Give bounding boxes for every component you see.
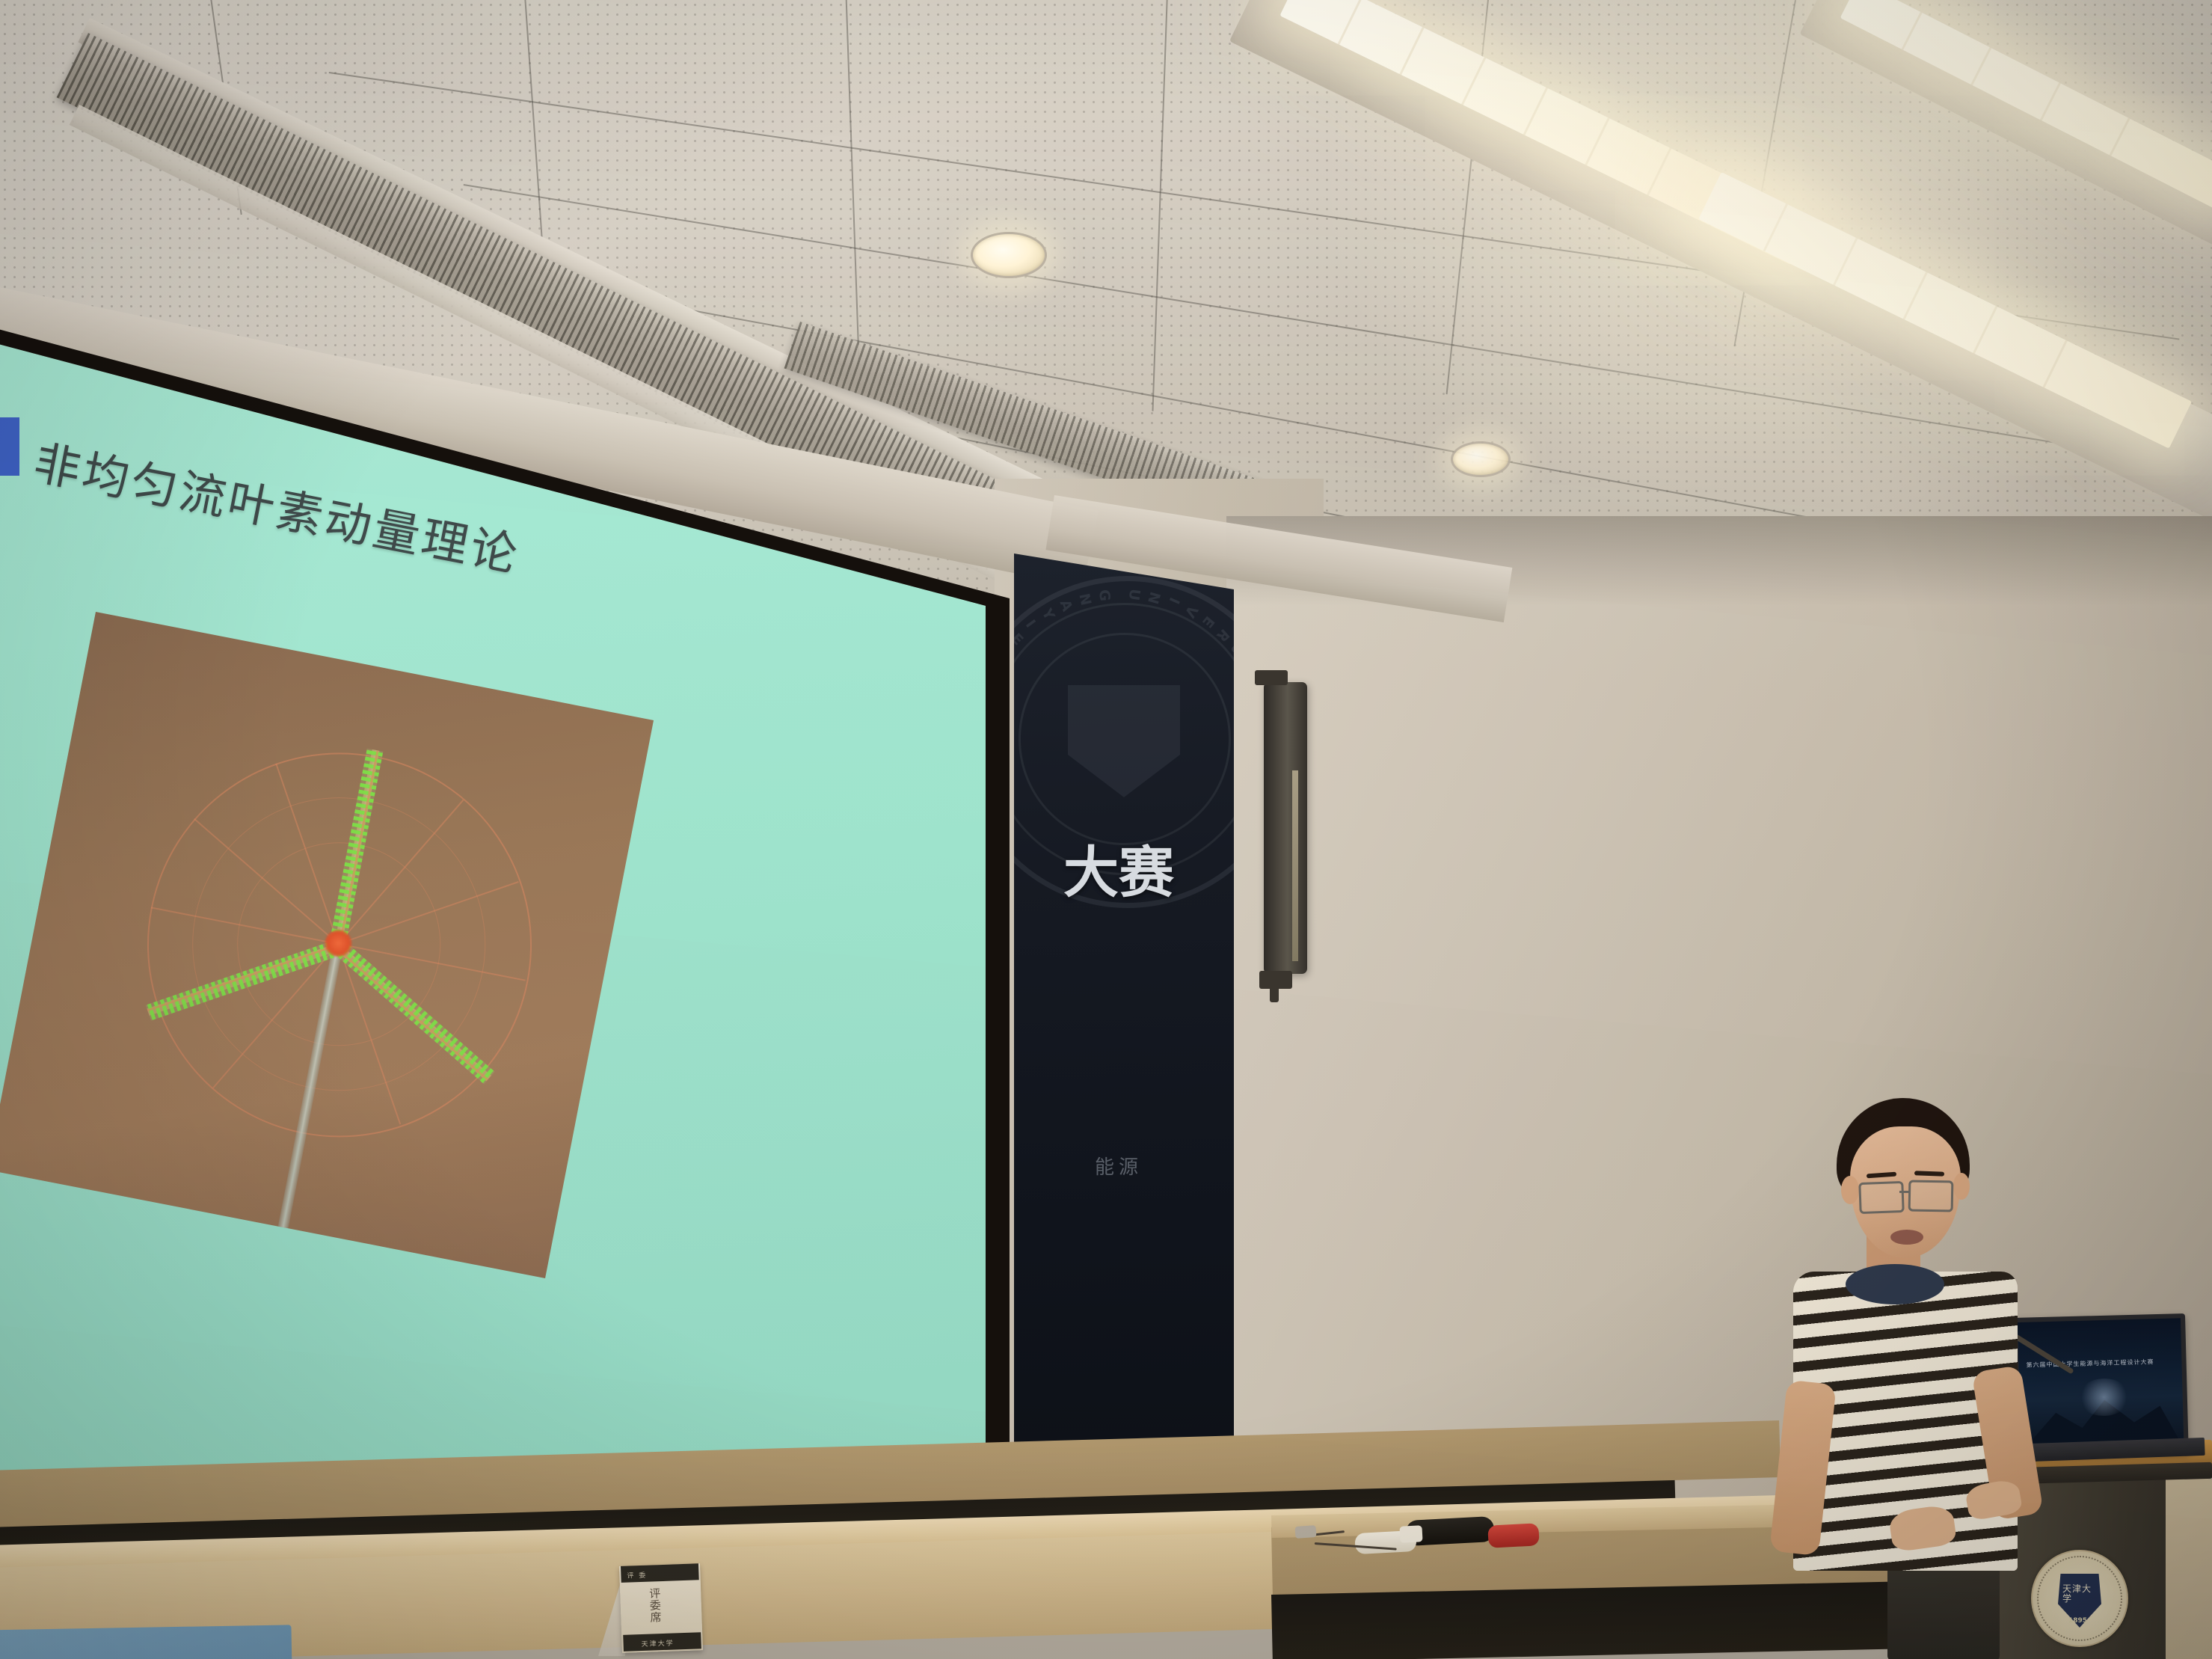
recessed-downlight: [1451, 441, 1511, 477]
speaker-bracket-stem: [1270, 986, 1279, 1002]
presenter-shirt-collar: [1846, 1264, 1944, 1304]
red-marker: [1487, 1523, 1539, 1548]
presenter-ear-left: [1841, 1176, 1859, 1204]
banner-seal-letter: V: [1181, 602, 1201, 621]
slide-figure-panel: [0, 612, 654, 1278]
name-card-bottom-band-text: 天津大学: [641, 1637, 674, 1649]
podium-seal-chinese: 天津大学: [2062, 1584, 2098, 1604]
banner-seal-letter: R: [1213, 625, 1232, 645]
banner-subline: 能源: [1036, 1152, 1201, 1180]
slide-decoration-block-lower: [0, 417, 19, 476]
chair-back: [0, 1625, 292, 1659]
presenter-glasses-bridge: [1899, 1191, 1910, 1193]
presentation-photo: 非均匀流叶素动量理论: [0, 0, 2212, 1659]
banner-seal-letter: E: [1014, 631, 1027, 649]
small-clip: [1294, 1525, 1316, 1539]
speaker-grille-slot: [1292, 770, 1298, 961]
presenter-ear-right: [1953, 1173, 1970, 1200]
presenter-mouth: [1890, 1230, 1923, 1245]
banner-seal-letter: A: [1057, 598, 1076, 614]
name-card-top-band: 评 委: [621, 1563, 699, 1583]
white-bottle-cap: [1399, 1525, 1422, 1543]
name-card-bottom-band: 天津大学: [623, 1632, 701, 1652]
wall-speaker: [1264, 682, 1307, 974]
name-card: 评 委 评委席 天津大学: [619, 1563, 703, 1653]
name-card-top-band-text: 评 委: [627, 1570, 647, 1580]
podium-side-panel: [2166, 1472, 2212, 1659]
banner-seal-letter: Y: [1039, 606, 1058, 623]
recessed-downlight: [971, 232, 1047, 278]
banner-seal-letter: G: [1096, 589, 1113, 602]
presenter-glasses-left-lens: [1858, 1181, 1904, 1214]
banner-seal-letter: I: [1165, 595, 1182, 607]
banner-seal-letter: U: [1125, 588, 1143, 602]
laptop-wallpaper-glow: [2077, 1378, 2130, 1417]
banner-seal-letter: E: [1198, 613, 1217, 631]
podium-seal-year: 1895: [2068, 1617, 2087, 1625]
presenter-glasses-right-lens: [1908, 1180, 1954, 1212]
podium-university-seal: 天津大学 1895: [2031, 1550, 2128, 1647]
banner-seal-letter: I: [1022, 617, 1039, 631]
banner-seal-letter: S: [1227, 640, 1234, 660]
banner-seal-letter: N: [1144, 590, 1164, 607]
banner-headline: 大赛: [1036, 845, 1201, 901]
banner-seal-letter: N: [1075, 592, 1094, 607]
laptop-screen: 第六届中国大学生能源与海洋工程设计大赛: [2018, 1318, 2184, 1448]
speaker-bracket-top: [1255, 670, 1288, 685]
laptop-slide-title: 第六届中国大学生能源与海洋工程设计大赛: [2026, 1358, 2154, 1369]
name-card-name: 评委席: [647, 1587, 664, 1624]
